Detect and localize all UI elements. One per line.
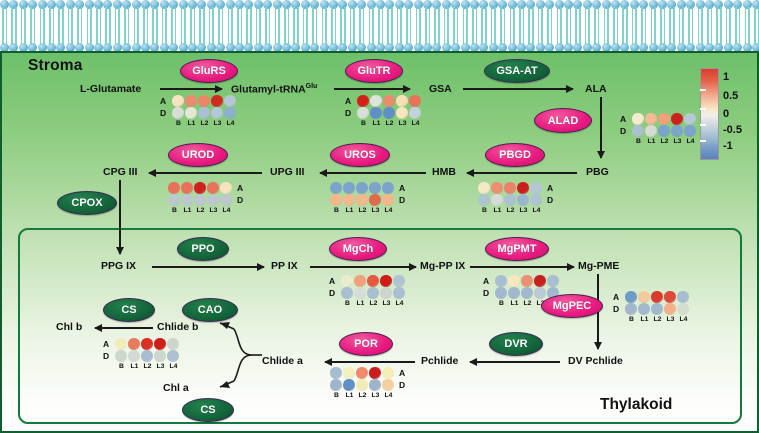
lipid-molecule bbox=[376, 0, 385, 26]
heatmap-col-label: L3 bbox=[211, 120, 224, 127]
heatmap-row bbox=[625, 291, 690, 303]
lipid-molecule bbox=[743, 0, 752, 26]
lipid-molecule bbox=[235, 0, 244, 26]
heatmap-row-label: A bbox=[483, 276, 489, 286]
heatmap-cell bbox=[625, 303, 638, 315]
heatmap-cell bbox=[357, 107, 370, 119]
heatmap-cell bbox=[491, 194, 504, 206]
heatmap-col-label: B bbox=[330, 207, 343, 214]
lipid-molecule bbox=[179, 0, 188, 26]
lipid-molecule bbox=[752, 0, 759, 26]
heatmap-col-label: B bbox=[357, 120, 370, 127]
legend-tick-3 bbox=[700, 124, 706, 126]
heatmap-row-label: A bbox=[329, 276, 335, 286]
heatmap-row-label: A bbox=[399, 368, 405, 378]
heatmap-col-label: L4 bbox=[382, 392, 395, 399]
heatmap-cell bbox=[478, 194, 491, 206]
heatmap-col-label: L3 bbox=[396, 120, 409, 127]
lipid-molecule bbox=[498, 26, 507, 52]
heatmap-cell bbox=[220, 182, 233, 194]
heatmap-cell bbox=[409, 107, 422, 119]
heatmap-row bbox=[330, 194, 395, 206]
lipid-molecule bbox=[0, 26, 9, 52]
heatmap-cell bbox=[517, 194, 530, 206]
heatmap-cell bbox=[638, 291, 651, 303]
heatmap-cell bbox=[382, 182, 395, 194]
heatmap-cell bbox=[194, 182, 207, 194]
heatmap-cell bbox=[194, 194, 207, 206]
lipid-molecule bbox=[705, 0, 714, 26]
heatmap-cell bbox=[356, 194, 369, 206]
arrow-glutamyltrna-to-gsa bbox=[334, 88, 410, 90]
heatmap-cell bbox=[534, 275, 547, 287]
heatmap-cell bbox=[341, 275, 354, 287]
lipid-molecule bbox=[555, 0, 564, 26]
enzyme-uros-label: UROS bbox=[344, 149, 376, 161]
heatmap-col-labels: BL1L2L3L4 bbox=[357, 120, 422, 127]
lipid-molecule bbox=[85, 26, 94, 52]
heatmap-cell bbox=[369, 379, 382, 391]
metabolite-glutamyl-trna: Glutamyl-tRNAGlu bbox=[231, 83, 317, 96]
heatmap-cell bbox=[356, 379, 369, 391]
lipid-molecule bbox=[103, 26, 112, 52]
heatmap-chlb: ADBL1L2L3L4 bbox=[103, 338, 180, 362]
enzyme-mgch-label: MgCh bbox=[343, 243, 374, 255]
lipid-molecule bbox=[395, 0, 404, 26]
heatmap-col-label: B bbox=[341, 300, 354, 307]
heatmap-urod: ADBL1L2L3L4 bbox=[168, 182, 233, 206]
heatmap-cell bbox=[517, 182, 530, 194]
enzyme-cs-top[interactable]: CS bbox=[103, 298, 155, 322]
lipid-molecule bbox=[169, 0, 178, 26]
arrow-chlideb-to-chlb bbox=[95, 327, 153, 329]
arrow-ala-to-pbg bbox=[600, 97, 602, 158]
lipid-molecule bbox=[301, 26, 310, 52]
heatmap-col-labels: BL1L2L3L4 bbox=[625, 316, 690, 323]
heatmap-cell bbox=[224, 107, 237, 119]
heatmap-cell bbox=[396, 107, 409, 119]
heatmap-col-label: B bbox=[632, 138, 645, 145]
heatmap-col-label: L3 bbox=[671, 138, 684, 145]
lipid-molecule bbox=[254, 26, 263, 52]
heatmap-cell bbox=[671, 113, 684, 125]
lipid-molecule bbox=[141, 0, 150, 26]
heatmap-cell bbox=[343, 182, 356, 194]
heatmap-row-label: A bbox=[613, 292, 619, 302]
lipid-molecule bbox=[649, 26, 658, 52]
heatmap-col-label: L2 bbox=[651, 316, 664, 323]
lipid-molecule bbox=[508, 26, 517, 52]
heatmap-col-label: L2 bbox=[356, 392, 369, 399]
lipid-molecule bbox=[705, 26, 714, 52]
lipid-molecule bbox=[113, 0, 122, 26]
heatmap-cell bbox=[382, 379, 395, 391]
metabolite-mg-pme: Mg-PME bbox=[578, 260, 619, 272]
lipid-molecule bbox=[743, 26, 752, 52]
lipid-molecule bbox=[141, 26, 150, 52]
lipid-molecule bbox=[423, 0, 432, 26]
lipid-molecule bbox=[216, 0, 225, 26]
heatmap-row bbox=[495, 275, 560, 287]
heatmap-cell bbox=[185, 95, 198, 107]
heatmap-col-label: L4 bbox=[393, 300, 406, 307]
enzyme-uros[interactable]: UROS bbox=[330, 143, 390, 167]
lipid-molecule bbox=[733, 26, 742, 52]
heatmap-cell bbox=[207, 194, 220, 206]
heatmap-col-label: L1 bbox=[508, 300, 521, 307]
lipid-molecule bbox=[367, 0, 376, 26]
lipid-molecule bbox=[423, 26, 432, 52]
heatmap-cell bbox=[651, 291, 664, 303]
enzyme-glurs-label: GluRS bbox=[192, 65, 226, 77]
heatmap-col-label: L1 bbox=[638, 316, 651, 323]
heatmap-cell bbox=[664, 303, 677, 315]
lipid-molecule bbox=[66, 0, 75, 26]
lipid-molecule bbox=[432, 0, 441, 26]
lipid-molecule bbox=[113, 26, 122, 52]
heatmap-cell bbox=[198, 107, 211, 119]
lipid-molecule bbox=[470, 26, 479, 52]
heatmap-row-label: D bbox=[345, 108, 351, 118]
enzyme-cpox[interactable]: CPOX bbox=[57, 191, 117, 215]
heatmap-cell bbox=[409, 95, 422, 107]
metabolite-pp-ix: PP IX bbox=[271, 260, 298, 272]
lipid-molecule bbox=[273, 0, 282, 26]
heatmap-col-label: L1 bbox=[343, 207, 356, 214]
lipid-molecule bbox=[442, 0, 451, 26]
lipid-molecule bbox=[395, 26, 404, 52]
enzyme-alad[interactable]: ALAD bbox=[534, 108, 592, 133]
lipid-molecule bbox=[677, 26, 686, 52]
lipid-molecule bbox=[385, 26, 394, 52]
lipid-molecule bbox=[0, 0, 9, 26]
heatmap-col-label: L4 bbox=[677, 316, 690, 323]
legend-tick-1 bbox=[700, 89, 706, 91]
heatmap-col-label: L2 bbox=[194, 207, 207, 214]
heatmap-cell bbox=[115, 350, 128, 362]
heatmap-cell bbox=[330, 194, 343, 206]
heatmap-cell bbox=[684, 125, 697, 137]
heatmap-cell bbox=[354, 287, 367, 299]
lipid-molecule bbox=[197, 26, 206, 52]
lipid-molecule bbox=[611, 26, 620, 52]
heatmap-row bbox=[341, 287, 406, 299]
heatmap-row-label: D bbox=[399, 195, 405, 205]
lipid-molecule bbox=[301, 0, 310, 26]
heatmap-row-label: A bbox=[399, 183, 405, 193]
heatmap-col-labels: BL1L2L3L4 bbox=[115, 363, 180, 370]
lipid-molecule bbox=[451, 26, 460, 52]
enzyme-mgpec[interactable]: MgPEC bbox=[541, 294, 603, 318]
heatmap-cell bbox=[534, 287, 547, 299]
lipid-molecule bbox=[724, 0, 733, 26]
lipid-molecule bbox=[348, 26, 357, 52]
lipid-molecule bbox=[752, 26, 759, 52]
heatmap-cell bbox=[383, 95, 396, 107]
lipid-molecule bbox=[244, 0, 253, 26]
lipid-molecule bbox=[404, 0, 413, 26]
lipid-molecule bbox=[686, 0, 695, 26]
lipid-molecule bbox=[414, 26, 423, 52]
pathway-figure: Stroma Thylakoid L-Glutamate GluRS Gluta… bbox=[0, 0, 759, 433]
lipid-molecule bbox=[310, 0, 319, 26]
lipid-molecule bbox=[526, 26, 535, 52]
heatmap-row bbox=[330, 367, 395, 379]
lipid-molecule bbox=[38, 26, 47, 52]
lipid-molecule bbox=[536, 0, 545, 26]
heatmap-cell bbox=[172, 107, 185, 119]
enzyme-cpox-label: CPOX bbox=[71, 197, 102, 209]
heatmap-cell bbox=[167, 350, 180, 362]
heatmap-row bbox=[172, 95, 237, 107]
lipid-molecule bbox=[169, 26, 178, 52]
chlide-a-branch-bracket bbox=[190, 315, 270, 395]
heatmap-col-label: L1 bbox=[181, 207, 194, 214]
heatmap-row-label: A bbox=[345, 96, 351, 106]
heatmap-cell bbox=[495, 275, 508, 287]
arrow-cpgiii-to-ppgix bbox=[119, 180, 121, 254]
heatmap-cell bbox=[168, 194, 181, 206]
metabolite-pbg: PBG bbox=[586, 166, 609, 178]
heatmap-col-label: L1 bbox=[491, 207, 504, 214]
lipid-molecule bbox=[714, 0, 723, 26]
heatmap-row bbox=[632, 125, 697, 137]
lipid-molecule bbox=[66, 26, 75, 52]
lipid-molecule bbox=[188, 26, 197, 52]
lipid-molecule bbox=[479, 26, 488, 52]
enzyme-ppo-label: PPO bbox=[191, 243, 214, 255]
heatmap-col-labels: BL1L2L3L4 bbox=[168, 207, 233, 214]
arrow-mgppix-to-mgpme bbox=[470, 266, 574, 268]
heatmap-cell bbox=[141, 338, 154, 350]
heatmap-col-label: L3 bbox=[664, 316, 677, 323]
arrow-ppgix-to-ppix bbox=[152, 266, 264, 268]
heatmap-cell bbox=[651, 303, 664, 315]
heatmap-cell bbox=[383, 107, 396, 119]
lipid-molecule bbox=[122, 0, 131, 26]
enzyme-por[interactable]: POR bbox=[339, 332, 393, 356]
heatmap-cell bbox=[677, 291, 690, 303]
heatmap-col-label: B bbox=[330, 392, 343, 399]
heatmap-cell bbox=[491, 182, 504, 194]
heatmap-cell bbox=[167, 338, 180, 350]
heatmap-col-label: L1 bbox=[645, 138, 658, 145]
lipid-molecule bbox=[564, 0, 573, 26]
lipid-molecule bbox=[573, 0, 582, 26]
heatmap-alad: ADBL1L2L3L4 bbox=[620, 113, 697, 137]
heatmap-row bbox=[168, 194, 233, 206]
lipid-molecule bbox=[329, 0, 338, 26]
heatmap-cell bbox=[632, 125, 645, 137]
arrow-glutamate-to-glutamyltrna bbox=[160, 88, 222, 90]
heatmap-row bbox=[330, 182, 395, 194]
heatmap-row-label: D bbox=[483, 288, 489, 298]
heatmap-row bbox=[478, 182, 543, 194]
legend-label-05: 0.5 bbox=[723, 90, 738, 102]
heatmap-row-label: D bbox=[399, 380, 405, 390]
heatmap-cell bbox=[369, 367, 382, 379]
heatmap-cell bbox=[341, 287, 354, 299]
heatmap-col-label: L4 bbox=[167, 363, 180, 370]
metabolite-pchlide: Pchlide bbox=[421, 355, 458, 367]
heatmap-row-label: D bbox=[547, 195, 553, 205]
heatmap-cell bbox=[115, 338, 128, 350]
heatmap-cell bbox=[508, 287, 521, 299]
lipid-molecule bbox=[686, 26, 695, 52]
heatmap-row-label: A bbox=[547, 183, 553, 193]
enzyme-mgch[interactable]: MgCh bbox=[329, 237, 387, 261]
metabolite-cpg-iii: CPG III bbox=[103, 166, 137, 178]
lipid-molecule bbox=[179, 26, 188, 52]
lipid-molecule bbox=[667, 0, 676, 26]
metabolite-chlide-b: Chlide b bbox=[157, 321, 198, 333]
lipid-molecule bbox=[592, 0, 601, 26]
enzyme-dvr-label: DVR bbox=[504, 338, 527, 350]
lipid-molecule bbox=[94, 26, 103, 52]
lipid-molecule bbox=[451, 0, 460, 26]
lipid-molecule bbox=[545, 0, 554, 26]
lipid-molecule bbox=[103, 0, 112, 26]
heatmap-row-label: D bbox=[620, 126, 626, 136]
metabolite-l-glutamate: L-Glutamate bbox=[80, 83, 141, 95]
lipid-molecule bbox=[94, 0, 103, 26]
metabolite-glutamyl-trna-text: Glutamyl-tRNA bbox=[231, 84, 306, 96]
lipid-molecule bbox=[160, 0, 169, 26]
lipid-molecule bbox=[376, 26, 385, 52]
heatmap-col-labels: BL1L2L3L4 bbox=[330, 392, 395, 399]
lipid-molecule bbox=[461, 26, 470, 52]
enzyme-urod[interactable]: UROD bbox=[168, 143, 228, 167]
lipid-molecule bbox=[733, 0, 742, 26]
heatmap-cell bbox=[168, 182, 181, 194]
lipid-molecule bbox=[414, 0, 423, 26]
lipid-molecule bbox=[714, 26, 723, 52]
arrow-hmb-to-upgiii bbox=[320, 172, 426, 174]
heatmap-row-label: A bbox=[237, 183, 243, 193]
enzyme-glutr[interactable]: GluTR bbox=[345, 59, 403, 83]
heatmap-col-label: L2 bbox=[356, 207, 369, 214]
heatmap-col-label: L4 bbox=[530, 207, 543, 214]
lipid-molecule bbox=[517, 26, 526, 52]
lipid-molecule bbox=[442, 26, 451, 52]
heatmap-col-label: B bbox=[172, 120, 185, 127]
heatmap-row-label: A bbox=[620, 114, 626, 124]
heatmap-cell bbox=[370, 107, 383, 119]
lipid-molecule bbox=[545, 26, 554, 52]
enzyme-mgpmt[interactable]: MgPMT bbox=[485, 237, 549, 261]
heatmap-cell bbox=[211, 107, 224, 119]
lipid-molecule bbox=[9, 26, 18, 52]
lipid-molecule bbox=[226, 0, 235, 26]
metabolite-ppg-ix: PPG IX bbox=[101, 260, 136, 272]
enzyme-pbgd[interactable]: PBGD bbox=[485, 143, 545, 167]
lipid-molecule bbox=[620, 26, 629, 52]
heatmap-cell bbox=[504, 194, 517, 206]
heatmap-cell bbox=[530, 182, 543, 194]
lipid-molecule bbox=[244, 26, 253, 52]
lipid-molecule bbox=[630, 26, 639, 52]
heatmap-cell bbox=[495, 287, 508, 299]
enzyme-glurs[interactable]: GluRS bbox=[180, 59, 238, 83]
heatmap-cell bbox=[671, 125, 684, 137]
lipid-molecule bbox=[489, 26, 498, 52]
lipid-molecule bbox=[573, 26, 582, 52]
heatmap-cell bbox=[207, 182, 220, 194]
heatmap-cell bbox=[645, 125, 658, 137]
enzyme-cao[interactable]: CAO bbox=[182, 298, 238, 322]
heatmap-row-label: D bbox=[613, 304, 619, 314]
heatmap-cell bbox=[393, 275, 406, 287]
arrow-upgiii-to-cpgiii bbox=[149, 172, 262, 174]
heatmap-col-label: B bbox=[625, 316, 638, 323]
enzyme-dvr[interactable]: DVR bbox=[489, 332, 543, 356]
enzyme-gsa-at-label: GSA-AT bbox=[496, 65, 537, 77]
lipid-molecule bbox=[649, 0, 658, 26]
lipid-molecule bbox=[122, 26, 131, 52]
lipid-molecule bbox=[132, 0, 141, 26]
lipid-bilayer-membrane bbox=[0, 0, 759, 52]
lipid-molecule bbox=[479, 0, 488, 26]
heatmap-cell bbox=[220, 194, 233, 206]
lipid-molecule bbox=[56, 0, 65, 26]
lipid-molecule bbox=[75, 26, 84, 52]
lipid-molecule bbox=[56, 26, 65, 52]
color-scale-bar bbox=[700, 68, 719, 160]
enzyme-cao-label: CAO bbox=[198, 304, 222, 316]
enzyme-gsa-at[interactable]: GSA-AT bbox=[484, 59, 550, 83]
heatmap-cell bbox=[330, 182, 343, 194]
legend-tick-4 bbox=[700, 140, 706, 142]
heatmap-cell bbox=[658, 113, 671, 125]
lipid-molecule bbox=[188, 0, 197, 26]
heatmap-col-labels: BL1L2L3L4 bbox=[172, 120, 237, 127]
heatmap-col-label: L3 bbox=[154, 363, 167, 370]
heatmap-col-label: L2 bbox=[141, 363, 154, 370]
metabolite-hmb: HMB bbox=[432, 166, 456, 178]
enzyme-cs-bottom[interactable]: CS bbox=[182, 398, 234, 422]
heatmap-col-label: L3 bbox=[207, 207, 220, 214]
heatmap-cell bbox=[677, 303, 690, 315]
heatmap-row bbox=[357, 107, 422, 119]
lipid-molecule bbox=[197, 0, 206, 26]
enzyme-mgpmt-label: MgPMT bbox=[497, 243, 536, 255]
heatmap-row bbox=[168, 182, 233, 194]
heatmap-cell bbox=[664, 291, 677, 303]
membrane-outer-leaflet bbox=[0, 0, 759, 26]
heatmap-cell bbox=[530, 194, 543, 206]
lipid-molecule bbox=[696, 0, 705, 26]
metabolite-mg-pp-ix: Mg-PP IX bbox=[420, 260, 465, 272]
heatmap-col-labels: BL1L2L3L4 bbox=[341, 300, 406, 307]
heatmap-cell bbox=[645, 113, 658, 125]
enzyme-glutr-label: GluTR bbox=[358, 65, 391, 77]
enzyme-ppo[interactable]: PPO bbox=[177, 237, 229, 261]
metabolite-gsa: GSA bbox=[429, 83, 452, 95]
heatmap-cell bbox=[382, 194, 395, 206]
lipid-molecule bbox=[583, 0, 592, 26]
lipid-molecule bbox=[47, 0, 56, 26]
heatmap-row bbox=[115, 338, 180, 350]
lipid-molecule bbox=[282, 26, 291, 52]
heatmap-col-label: L3 bbox=[380, 300, 393, 307]
lipid-molecule bbox=[291, 0, 300, 26]
lipid-molecule bbox=[724, 26, 733, 52]
heatmap-col-label: L2 bbox=[521, 300, 534, 307]
heatmap-cell bbox=[369, 194, 382, 206]
lipid-molecule bbox=[526, 0, 535, 26]
lipid-molecule bbox=[9, 0, 18, 26]
legend-label-0: 0 bbox=[723, 108, 729, 120]
